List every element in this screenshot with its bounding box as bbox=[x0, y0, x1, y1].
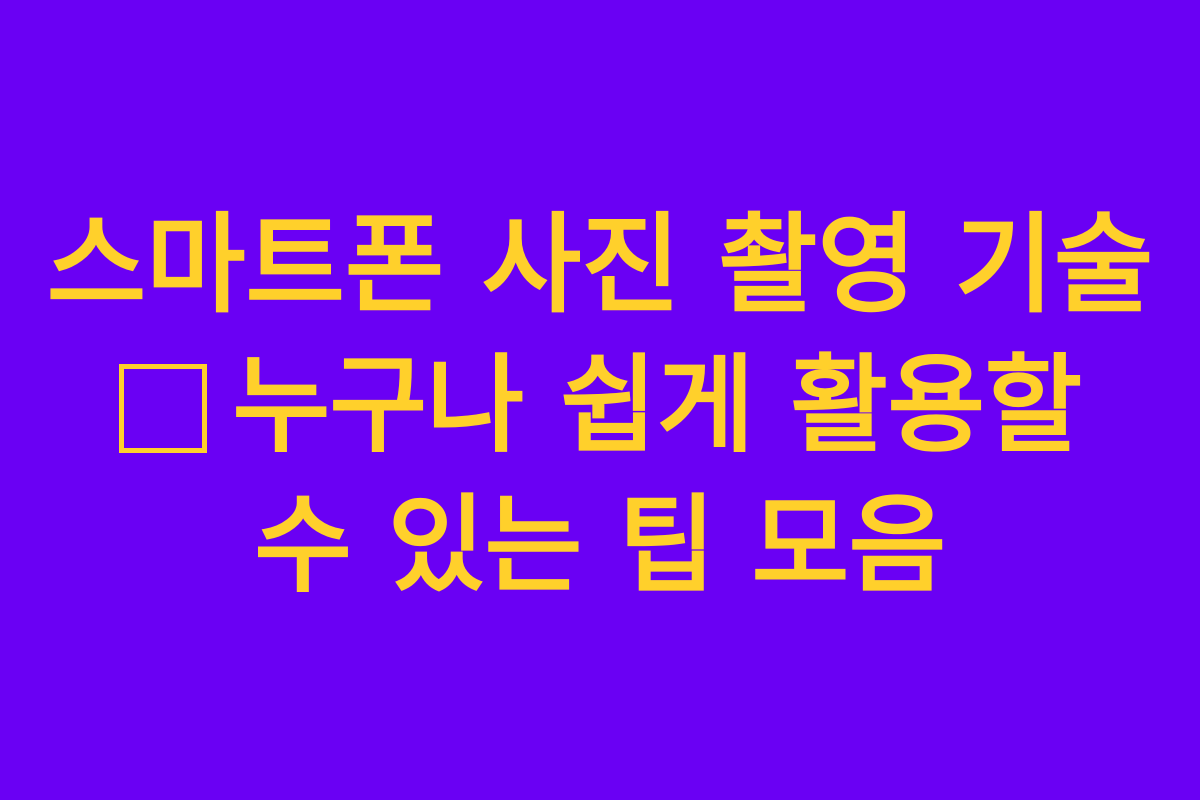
headline-line-3: 수 있는 팁 모음 bbox=[254, 476, 945, 616]
poster-canvas: 스마트폰 사진 촬영 기술 누구나 쉽게 활용할 수 있는 팁 모음 bbox=[0, 0, 1200, 800]
headline-line-1-text: 스마트폰 사진 촬영 기술 bbox=[47, 196, 1153, 336]
headline-line-2: 누구나 쉽게 활용할 bbox=[119, 336, 1082, 476]
headline-block: 스마트폰 사진 촬영 기술 누구나 쉽게 활용할 수 있는 팁 모음 bbox=[0, 196, 1200, 616]
headline-line-2-text: 누구나 쉽게 활용할 bbox=[233, 336, 1082, 476]
missing-glyph-box-icon bbox=[119, 364, 207, 453]
headline-line-3-text: 수 있는 팁 모음 bbox=[254, 476, 945, 616]
headline-line-1: 스마트폰 사진 촬영 기술 bbox=[47, 196, 1153, 336]
